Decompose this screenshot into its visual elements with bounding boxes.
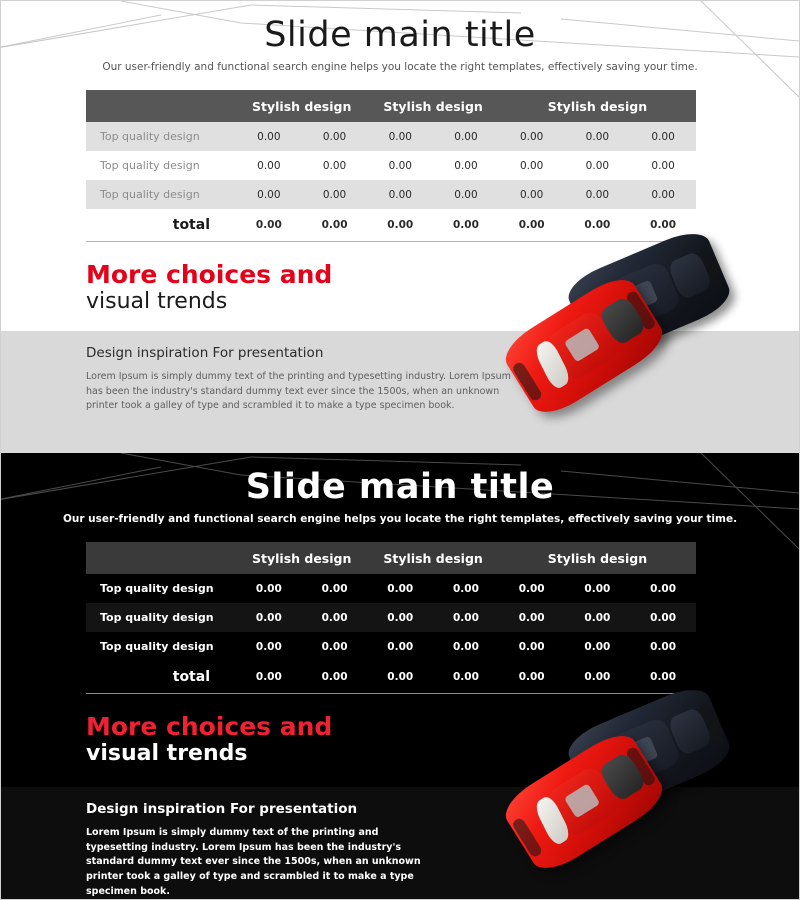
table-group-header-2: Stylish design	[367, 542, 498, 574]
table-total-row: total 0.00 0.00 0.00 0.00 0.00 0.00 0.00	[86, 661, 696, 693]
row-label: Top quality design	[86, 151, 236, 180]
band-title: Design inspiration For presentation	[86, 801, 516, 817]
total-cell: 0.00	[236, 661, 302, 693]
cell: 0.00	[630, 122, 696, 151]
cell: 0.00	[433, 603, 499, 632]
cell: 0.00	[367, 603, 433, 632]
total-cell: 0.00	[499, 209, 565, 241]
headline-line-2: visual trends	[86, 742, 799, 767]
cell: 0.00	[236, 574, 302, 603]
total-label: total	[86, 661, 236, 693]
table-corner-cell	[86, 90, 236, 122]
cell: 0.00	[433, 122, 499, 151]
table-header: Stylish design Stylish design Stylish de…	[86, 542, 696, 574]
total-cell: 0.00	[499, 661, 565, 693]
cell: 0.00	[433, 574, 499, 603]
table-group-header-3: Stylish design	[499, 90, 696, 122]
total-cell: 0.00	[565, 661, 631, 693]
row-label: Top quality design	[86, 603, 236, 632]
cell: 0.00	[499, 151, 565, 180]
total-cell: 0.00	[433, 661, 499, 693]
table-row: Top quality design 0.00 0.00 0.00 0.00 0…	[86, 632, 696, 661]
band-body: Lorem Ipsum is simply dummy text of the …	[86, 370, 516, 414]
content-band-light: Design inspiration For presentation Lore…	[1, 331, 799, 453]
cell: 0.00	[630, 180, 696, 209]
cell: 0.00	[499, 180, 565, 209]
cell: 0.00	[433, 180, 499, 209]
cell: 0.00	[236, 632, 302, 661]
cell: 0.00	[630, 574, 696, 603]
row-label: Top quality design	[86, 180, 236, 209]
table-row: Top quality design 0.00 0.00 0.00 0.00 0…	[86, 122, 696, 151]
cell: 0.00	[565, 151, 631, 180]
cell: 0.00	[367, 574, 433, 603]
table-group-header-3: Stylish design	[499, 542, 696, 574]
cell: 0.00	[367, 632, 433, 661]
content-band-dark: Design inspiration For presentation Lore…	[1, 787, 799, 899]
headline-line-2: visual trends	[86, 290, 799, 315]
headline-line-1: More choices and	[86, 261, 799, 289]
total-cell: 0.00	[630, 661, 696, 693]
band-title: Design inspiration For presentation	[86, 345, 516, 361]
table-body: Top quality design 0.00 0.00 0.00 0.00 0…	[86, 574, 696, 693]
headline-line-1: More choices and	[86, 713, 799, 741]
cell: 0.00	[565, 574, 631, 603]
total-label: total	[86, 209, 236, 241]
cell: 0.00	[302, 122, 368, 151]
cell: 0.00	[499, 603, 565, 632]
total-cell: 0.00	[630, 209, 696, 241]
cell: 0.00	[302, 632, 368, 661]
cell: 0.00	[367, 151, 433, 180]
page-subtitle: Our user-friendly and functional search …	[1, 513, 799, 525]
data-table-wrapper-light: Stylish design Stylish design Stylish de…	[86, 90, 696, 241]
table-group-header-1: Stylish design	[236, 90, 367, 122]
cell: 0.00	[236, 151, 302, 180]
cell: 0.00	[433, 151, 499, 180]
slide-deck-preview: Slide main title Our user-friendly and f…	[0, 0, 800, 900]
band-body: Lorem Ipsum is simply dummy text of the …	[86, 826, 436, 899]
cell: 0.00	[367, 122, 433, 151]
table-row: Top quality design 0.00 0.00 0.00 0.00 0…	[86, 574, 696, 603]
data-table: Stylish design Stylish design Stylish de…	[86, 90, 696, 241]
data-table-wrapper-dark: Stylish design Stylish design Stylish de…	[86, 542, 696, 693]
row-label: Top quality design	[86, 574, 236, 603]
table-corner-cell	[86, 542, 236, 574]
headline-dark: More choices and visual trends	[86, 713, 799, 767]
title-block-dark: Slide main title Our user-friendly and f…	[1, 453, 799, 525]
total-cell: 0.00	[236, 209, 302, 241]
total-cell: 0.00	[367, 209, 433, 241]
table-group-header-1: Stylish design	[236, 542, 367, 574]
cell: 0.00	[565, 603, 631, 632]
row-label: Top quality design	[86, 122, 236, 151]
cell: 0.00	[433, 632, 499, 661]
cell: 0.00	[236, 603, 302, 632]
slide-dark: Slide main title Our user-friendly and f…	[1, 453, 799, 899]
table-bottom-rule	[86, 693, 696, 694]
table-total-row: total 0.00 0.00 0.00 0.00 0.00 0.00 0.00	[86, 209, 696, 241]
cell: 0.00	[236, 122, 302, 151]
table-row: Top quality design 0.00 0.00 0.00 0.00 0…	[86, 603, 696, 632]
slide-light: Slide main title Our user-friendly and f…	[1, 1, 799, 453]
table-header: Stylish design Stylish design Stylish de…	[86, 90, 696, 122]
total-cell: 0.00	[433, 209, 499, 241]
table-body: Top quality design 0.00 0.00 0.00 0.00 0…	[86, 122, 696, 241]
page-title: Slide main title	[1, 467, 799, 507]
table-group-header-2: Stylish design	[367, 90, 498, 122]
cell: 0.00	[499, 574, 565, 603]
title-block-light: Slide main title Our user-friendly and f…	[1, 1, 799, 73]
cell: 0.00	[302, 180, 368, 209]
table-row: Top quality design 0.00 0.00 0.00 0.00 0…	[86, 151, 696, 180]
cell: 0.00	[565, 632, 631, 661]
cell: 0.00	[499, 122, 565, 151]
cell: 0.00	[236, 180, 302, 209]
total-cell: 0.00	[367, 661, 433, 693]
total-cell: 0.00	[565, 209, 631, 241]
cell: 0.00	[302, 151, 368, 180]
cell: 0.00	[302, 574, 368, 603]
cell: 0.00	[367, 180, 433, 209]
table-bottom-rule	[86, 241, 696, 242]
page-subtitle: Our user-friendly and functional search …	[1, 61, 799, 73]
data-table: Stylish design Stylish design Stylish de…	[86, 542, 696, 693]
cell: 0.00	[630, 151, 696, 180]
cell: 0.00	[565, 180, 631, 209]
headline-light: More choices and visual trends	[86, 261, 799, 315]
total-cell: 0.00	[302, 209, 368, 241]
table-row: Top quality design 0.00 0.00 0.00 0.00 0…	[86, 180, 696, 209]
cell: 0.00	[302, 603, 368, 632]
total-cell: 0.00	[302, 661, 368, 693]
cell: 0.00	[499, 632, 565, 661]
cell: 0.00	[630, 632, 696, 661]
cell: 0.00	[630, 603, 696, 632]
row-label: Top quality design	[86, 632, 236, 661]
cell: 0.00	[565, 122, 631, 151]
page-title: Slide main title	[1, 15, 799, 55]
